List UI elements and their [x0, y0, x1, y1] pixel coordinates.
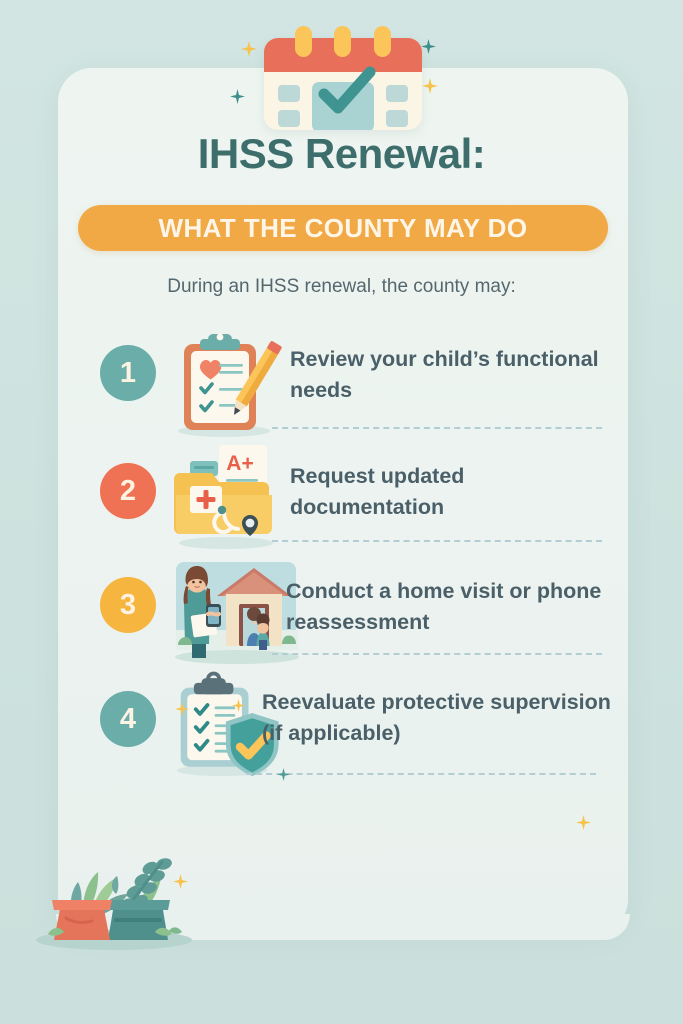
calendar-ring	[334, 26, 351, 57]
sparkle-teal-item4-lower	[277, 768, 290, 781]
sparkle-yellow-bottom-right	[576, 815, 591, 830]
list-item-text: Review your child’s functional needs	[290, 344, 620, 405]
item-divider	[272, 427, 602, 429]
list-item: 3	[58, 552, 628, 665]
item-divider	[246, 773, 596, 775]
calendar-date-cell	[386, 110, 408, 127]
sparkle-yellow-item4-right	[232, 699, 245, 712]
step-number: 4	[120, 703, 136, 736]
sparkle-yellow-item4-left	[175, 702, 189, 716]
step-number: 1	[120, 357, 136, 390]
item-divider	[272, 540, 602, 542]
sparkle-teal-top-right	[421, 39, 436, 54]
subtitle-banner-label: WHAT THE COUNTY MAY DO	[159, 213, 528, 244]
clipboard-checklist-pencil-icon	[162, 326, 290, 439]
calendar-date-cell	[386, 85, 408, 102]
list-item-text: Request updated documentation	[290, 461, 620, 522]
calendar-check-icon	[264, 26, 422, 130]
step-number-badge: 1	[100, 345, 156, 401]
step-number: 2	[120, 475, 136, 508]
calendar-ring	[374, 26, 391, 57]
list-item-text: Reevaluate protective supervision (if ap…	[262, 687, 622, 748]
page-title: IHSS Renewal:	[0, 130, 683, 178]
list-item: 4 Reevaluat	[58, 665, 628, 785]
potted-plants-illustration	[22, 822, 212, 952]
subtitle-banner: WHAT THE COUNTY MAY DO	[78, 205, 608, 251]
intro-text: During an IHSS renewal, the county may:	[0, 276, 683, 298]
steps-list: 1	[58, 326, 628, 785]
calendar-date-cell	[278, 110, 300, 127]
item-divider	[272, 653, 602, 655]
step-number-badge: 3	[100, 577, 156, 633]
step-number-badge: 2	[100, 463, 156, 519]
calendar-ring	[295, 26, 312, 57]
svg-text:A+: A+	[226, 452, 253, 475]
list-item: 1	[58, 326, 628, 439]
sparkle-yellow-top-left	[241, 41, 257, 57]
check-mark-icon	[314, 64, 380, 120]
step-number-badge: 4	[100, 691, 156, 747]
infographic-canvas: IHSS Renewal: WHAT THE COUNTY MAY DO Dur…	[0, 0, 683, 1024]
sparkle-teal-upper-left	[230, 89, 245, 104]
list-item: 2 A+	[58, 439, 628, 552]
step-number: 3	[120, 589, 136, 622]
list-item-text: Conduct a home visit or phone reassessme…	[286, 576, 631, 637]
medical-folder-documents-icon: A+	[162, 439, 290, 552]
calendar-date-cell	[278, 85, 300, 102]
sparkle-yellow-upper-right	[422, 78, 438, 94]
